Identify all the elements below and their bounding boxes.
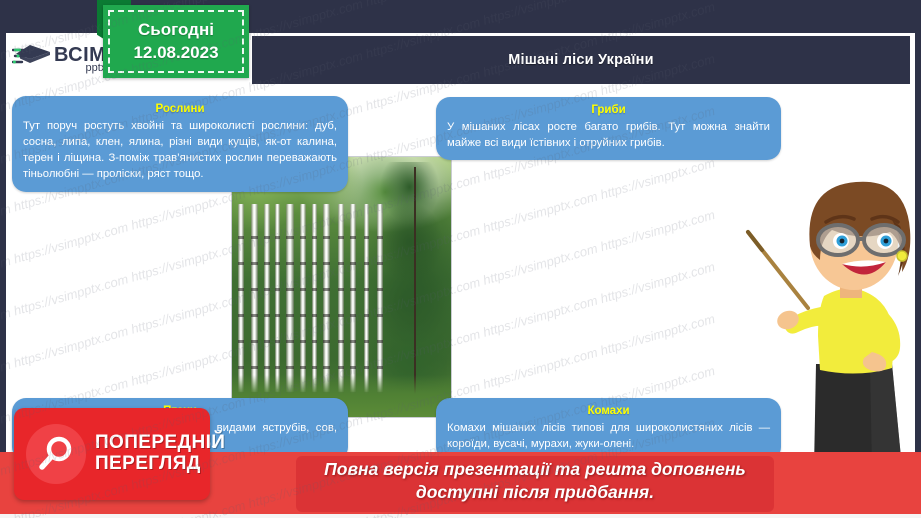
preview-banner-text: Повна версія презентації та решта доповн…	[296, 458, 774, 504]
banner-line-1: Повна версія презентації та решта доповн…	[296, 458, 774, 481]
banner-line-2: доступні після придбання.	[296, 481, 774, 504]
ribbon-label: Сьогодні	[138, 19, 214, 42]
date-ribbon: Сьогодні 12.08.2023	[103, 5, 249, 78]
callout-fungi-body: У мішаних лісах росте багато грибів. Тут…	[447, 119, 770, 151]
magnifier-icon	[26, 424, 86, 484]
slide-header-bar: Мішані ліси України	[252, 36, 910, 84]
callout-insects-title: Комахи	[447, 405, 770, 417]
forest-photo-image	[232, 157, 451, 417]
presentation-slide: Мішані ліси України	[0, 0, 921, 518]
photo-conifer-stem	[414, 167, 416, 406]
brand-logo: ВСІМ pptx	[6, 33, 104, 85]
preview-badge-line-1: ПОПЕРЕДНІЙ	[95, 433, 225, 454]
callout-fungi-title: Гриби	[447, 104, 770, 116]
ribbon-date: 12.08.2023	[133, 42, 218, 65]
callout-plants: Рослини Тут поруч ростуть хвойні та широ…	[12, 96, 348, 192]
callout-fungi: Гриби У мішаних лісах росте багато грибі…	[436, 97, 781, 160]
forest-photo	[231, 156, 452, 418]
callout-plants-title: Рослини	[23, 103, 337, 115]
callout-insects-body: Комахи мішаних лісів типові для широколи…	[447, 420, 770, 452]
graduation-cap-icon	[12, 42, 52, 76]
page-title: Мішані ліси України	[508, 52, 654, 68]
logo-wordmark: ВСІМ pptx	[54, 45, 106, 74]
preview-badge-text: ПОПЕРЕДНІЙ ПЕРЕГЛЯД	[95, 433, 225, 474]
preview-badge-line-2: ПЕРЕГЛЯД	[95, 454, 225, 475]
preview-badge[interactable]: ПОПЕРЕДНІЙ ПЕРЕГЛЯД	[14, 408, 210, 500]
callout-plants-body: Тут поруч ростуть хвойні та широколисті …	[23, 118, 337, 183]
